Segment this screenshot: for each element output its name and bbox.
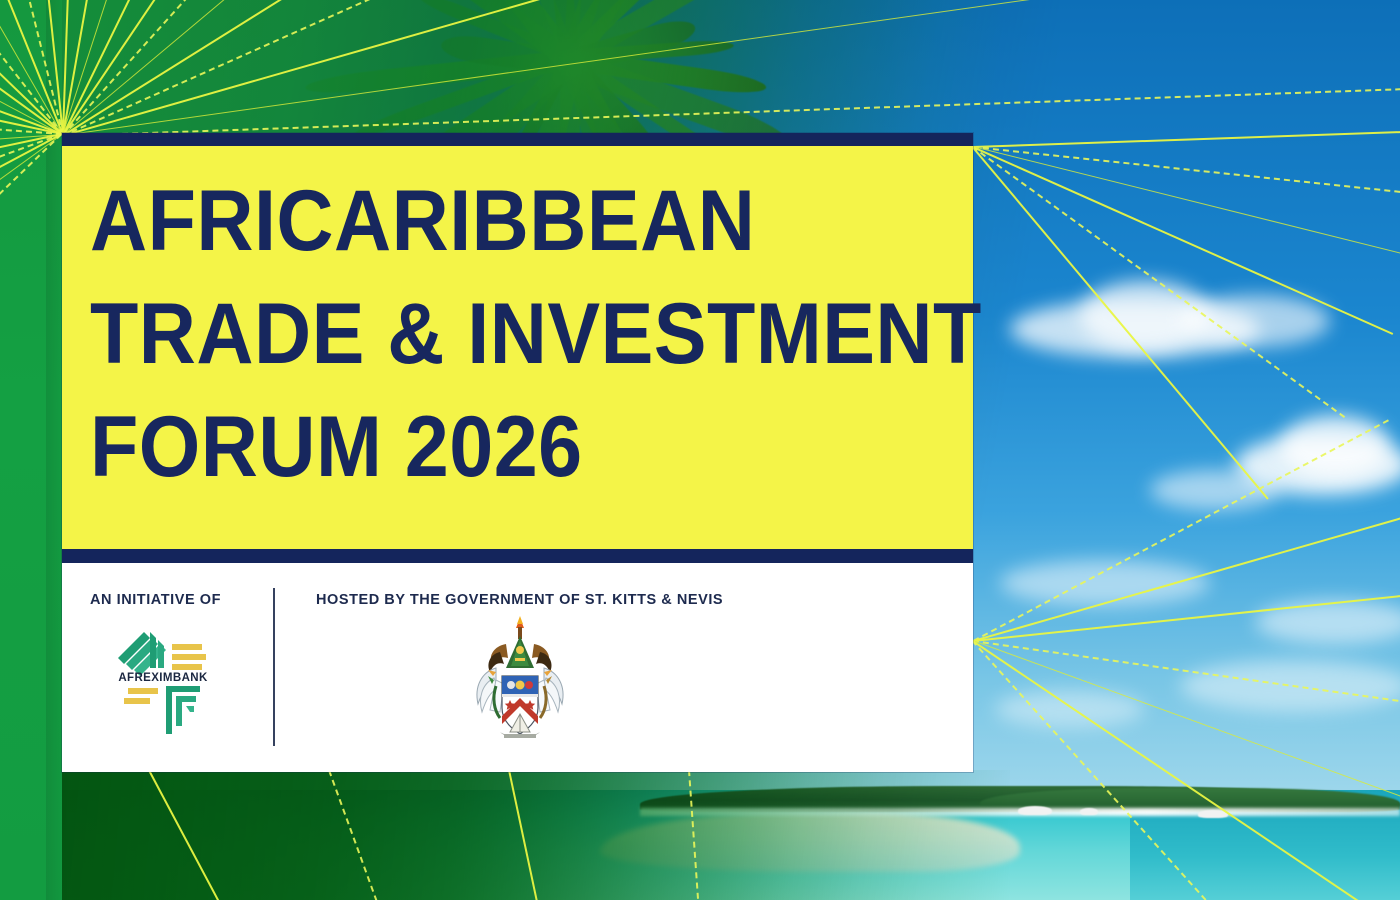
boat — [1080, 808, 1098, 815]
boat — [1198, 810, 1228, 818]
cloud — [1180, 295, 1330, 347]
coat-of-arms-icon — [466, 614, 574, 746]
poster-canvas: AFRICARIBBEAN TRADE & INVESTMENT FORUM 2… — [0, 0, 1400, 900]
credits-vertical-divider — [273, 588, 275, 746]
panel-divider-navy-bar — [62, 549, 973, 563]
cloud — [1150, 470, 1280, 510]
cloud — [1180, 660, 1400, 712]
st-kitts-nevis-coat-of-arms — [466, 614, 574, 746]
title-line-1: AFRICARIBBEAN — [90, 165, 900, 278]
panel-top-navy-bar — [62, 133, 973, 146]
host-label: HOSTED BY THE GOVERNMENT OF ST. KITTS & … — [316, 592, 723, 608]
event-title: AFRICARIBBEAN TRADE & INVESTMENT FORUM 2… — [90, 165, 900, 504]
initiative-label: AN INITIATIVE OF — [90, 592, 221, 608]
cloud — [1280, 415, 1390, 477]
title-line-2: TRADE & INVESTMENT — [90, 278, 900, 391]
afreximbank-wordmark: AFREXIMBANK — [104, 672, 222, 684]
afreximbank-logo: AFREXIMBANK — [104, 618, 222, 742]
green-duotone-overlay-beach — [0, 770, 1010, 900]
title-line-3: FORUM 2026 — [90, 391, 900, 504]
